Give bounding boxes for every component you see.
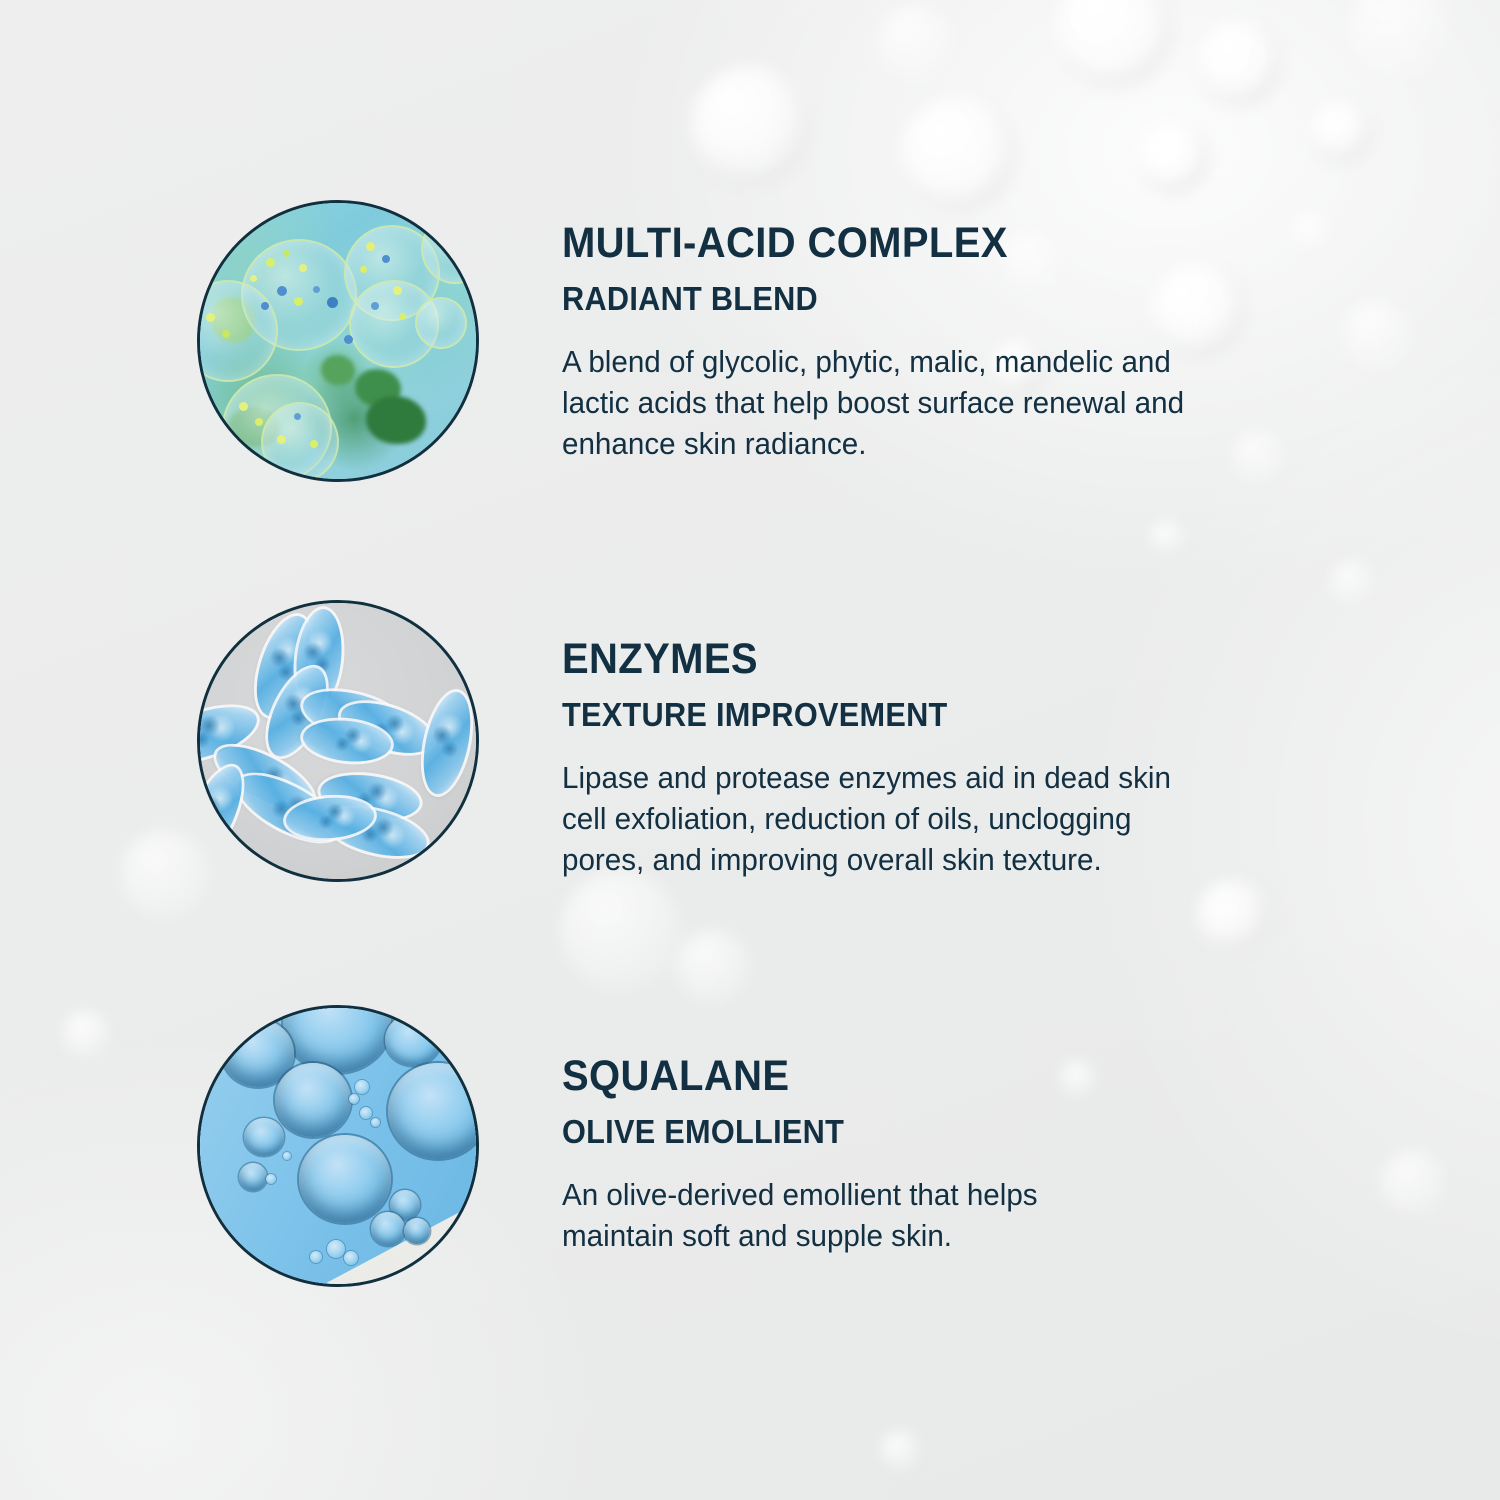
ingredient-subtitle: TEXTURE IMPROVEMENT	[562, 698, 1269, 731]
multi-acid-complex-image	[197, 200, 479, 482]
microscopic-enzyme-cells-swatch	[200, 603, 476, 879]
enzymes-text: ENZYMES TEXTURE IMPROVEMENT Lipase and p…	[562, 638, 1322, 881]
ingredient-benefits-panel: MULTI-ACID COMPLEX RADIANT BLEND A blend…	[0, 0, 1500, 1500]
ingredient-description: Lipase and protease enzymes aid in dead …	[562, 758, 1288, 881]
ingredient-name: MULTI-ACID COMPLEX	[562, 222, 1269, 265]
ingredient-subtitle: RADIANT BLEND	[562, 282, 1269, 315]
microscopic-algae-cells-swatch	[200, 203, 476, 479]
ingredient-name: SQUALANE	[562, 1055, 1269, 1098]
squalane-text: SQUALANE OLIVE EMOLLIENT An olive-derive…	[562, 1055, 1322, 1257]
ingredient-subtitle: OLIVE EMOLLIENT	[562, 1115, 1269, 1148]
blue-oil-droplets-swatch	[200, 1008, 476, 1284]
squalane-image	[197, 1005, 479, 1287]
enzymes-image	[197, 600, 479, 882]
multi-acid-complex-text: MULTI-ACID COMPLEX RADIANT BLEND A blend…	[562, 222, 1322, 465]
ingredient-description: A blend of glycolic, phytic, malic, mand…	[562, 342, 1288, 465]
ingredient-description: An olive-derived emollient that helps ma…	[562, 1175, 1288, 1257]
ingredient-name: ENZYMES	[562, 638, 1269, 681]
